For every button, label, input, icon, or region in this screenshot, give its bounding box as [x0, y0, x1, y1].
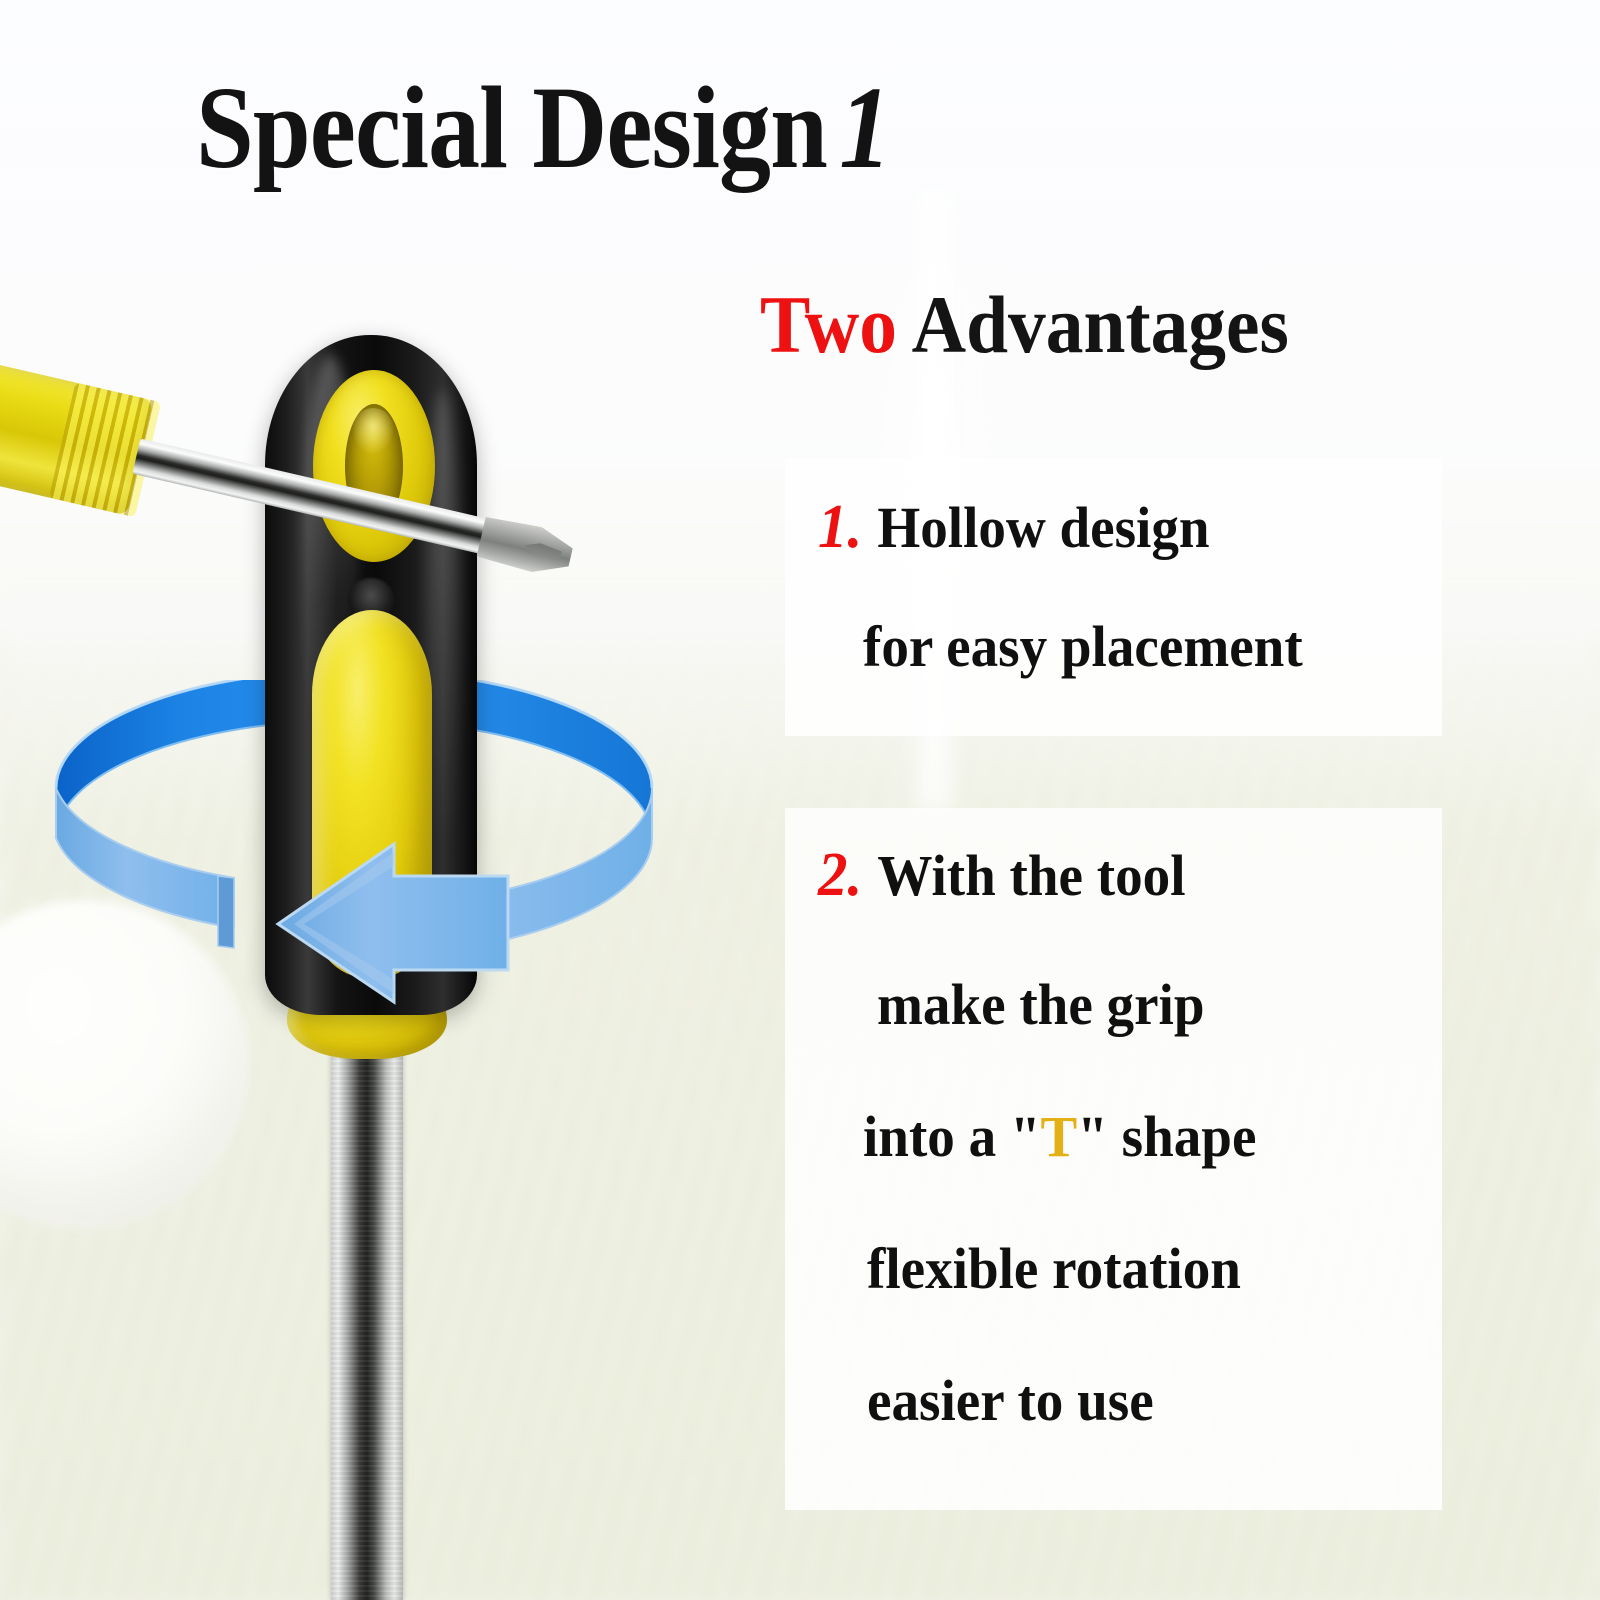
advantage-2-line-3-post: " shape	[1077, 1104, 1256, 1169]
advantage-1-text-line-1: Hollow design	[877, 495, 1209, 560]
advantage-2-number: 2.	[818, 841, 877, 909]
advantage-1-line-2: for easy placement	[863, 618, 1303, 676]
advantage-2-line-5: easier to use	[867, 1372, 1154, 1430]
subtitle: Two Advantages	[760, 282, 1289, 368]
page-title: Special Design1	[196, 68, 890, 188]
advantage-2-line-2: make the grip	[877, 976, 1205, 1034]
advantage-panel-1: 1.Hollow design for easy placement	[785, 458, 1442, 736]
tool-metal-blade	[331, 1040, 403, 1600]
infographic-canvas: Special Design1 Two Advantages 1.Hollow …	[0, 0, 1600, 1600]
advantage-panel-2: 2.With the tool make the grip into a "T"…	[785, 808, 1442, 1510]
page-title-number: 1	[827, 62, 890, 193]
subtitle-rest: Advantages	[897, 279, 1289, 370]
screwdriver-shaft	[132, 439, 493, 556]
advantage-2-text-line-1: With the tool	[877, 843, 1185, 908]
rotation-arrow-ring-front	[38, 680, 670, 1010]
advantage-2-line-3-pre: into a "	[863, 1104, 1041, 1169]
subtitle-highlight: Two	[760, 279, 897, 370]
blade-grain-texture	[331, 1040, 403, 1600]
advantage-2-t-letter: T	[1041, 1104, 1078, 1169]
advantage-2-line-1: 2.With the tool	[818, 844, 1186, 906]
screwdriver-phillips-tip	[476, 514, 576, 580]
page-title-text: Special Design	[196, 62, 827, 193]
advantage-1-number: 1.	[818, 493, 877, 561]
advantage-1-line-1: 1.Hollow design	[818, 496, 1210, 558]
advantage-2-line-3: into a "T" shape	[863, 1108, 1256, 1166]
advantage-2-line-4: flexible rotation	[867, 1240, 1241, 1298]
